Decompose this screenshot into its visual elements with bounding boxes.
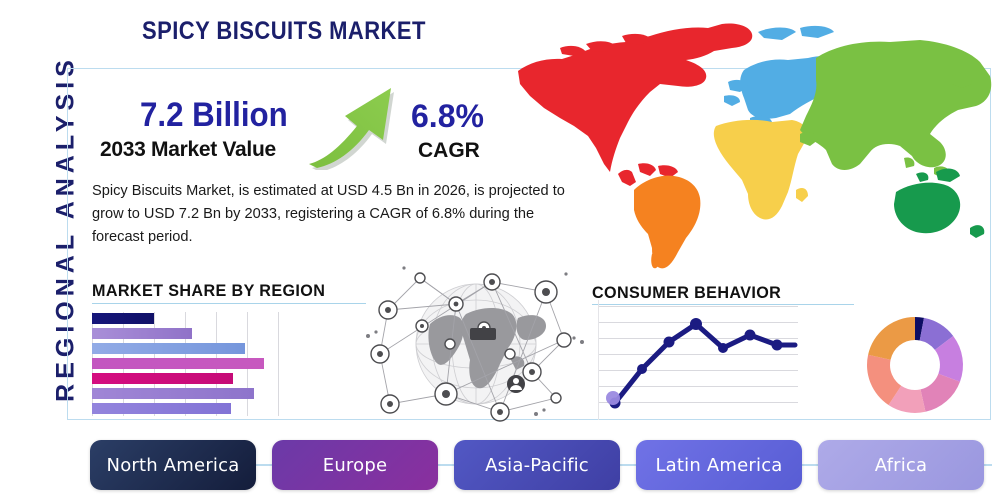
infographic-root: REGIONAL ANALYSIS SPICY BISCUITS MARKET …: [0, 0, 1000, 500]
bar-3: [92, 343, 245, 354]
donut-segments: [867, 317, 963, 413]
consumer-behavior-line-chart: [598, 300, 798, 420]
map-region-oceania: [894, 169, 984, 238]
map-region-africa: [714, 120, 808, 220]
bar-4: [92, 358, 264, 369]
bar-1: [92, 313, 154, 324]
bar-7: [92, 403, 231, 414]
market-value-number: 7.2 Billion: [140, 96, 288, 135]
line-chart-gridlines: [598, 300, 798, 420]
bar-6: [92, 388, 254, 399]
page-title: SPICY BISCUITS MARKET: [142, 17, 426, 46]
map-region-north-america: [518, 23, 752, 186]
market-share-bar-chart: [92, 312, 282, 416]
line-chart-series: [615, 324, 795, 403]
market-value-caption: 2033 Market Value: [100, 138, 276, 162]
market-share-heading: MARKET SHARE BY REGION: [92, 281, 325, 301]
consumer-segment-donut-chart: [853, 303, 977, 427]
cagr-number: 6.8%: [411, 98, 484, 135]
line-chart-first-marker: [606, 391, 620, 405]
region-chip-asia-pacific[interactable]: Asia-Pacific: [454, 440, 620, 490]
line-chart-markers: [610, 318, 783, 409]
bar-5: [92, 373, 233, 384]
donut-slice-7: [868, 317, 915, 360]
map-region-south-america: [634, 176, 700, 269]
map-region-asia: [800, 40, 991, 178]
region-chip-europe[interactable]: Europe: [272, 440, 438, 490]
global-network-globe-icon: [360, 262, 592, 426]
growth-arrow-icon: [305, 86, 401, 170]
region-chip-latin-america[interactable]: Latin America: [636, 440, 802, 490]
market-share-rule: [92, 303, 366, 304]
cagr-caption: CAGR: [418, 139, 480, 163]
world-map-icon: [500, 14, 1000, 269]
bar-2: [92, 328, 192, 339]
bar-chart-bars: [92, 313, 264, 414]
region-chip-bar: North America Europe Asia-Pacific Latin …: [80, 440, 992, 490]
region-chip-north-america[interactable]: North America: [90, 440, 256, 490]
region-chip-africa[interactable]: Africa: [818, 440, 984, 490]
